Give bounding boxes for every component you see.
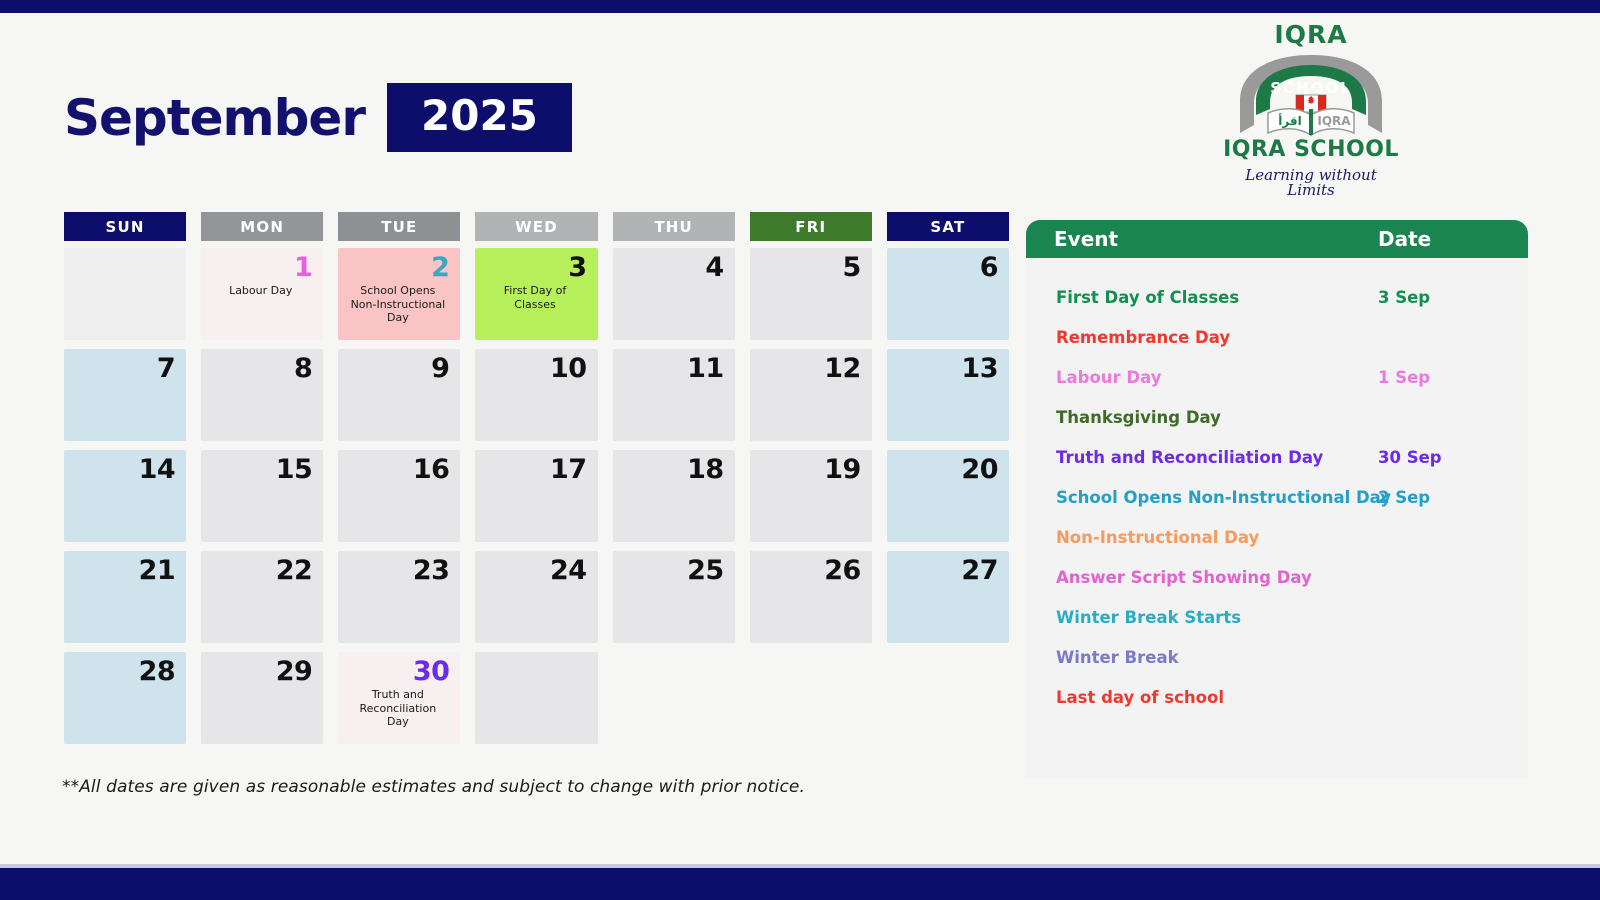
day-number: 27 — [895, 557, 998, 585]
day-number: 2 — [346, 254, 449, 282]
day-cell-26[interactable]: 26 — [750, 551, 872, 643]
footnote-text: **All dates are given as reasonable esti… — [62, 777, 805, 797]
day-number: 8 — [209, 355, 312, 383]
day-cell-30[interactable]: 30Truth and Reconciliation Day — [338, 652, 460, 744]
event-legend-row: Truth and Reconciliation Day30 Sep — [1026, 448, 1528, 488]
day-number: 21 — [72, 557, 175, 585]
day-number: 5 — [758, 254, 861, 282]
event-name: Winter Break — [1056, 648, 1179, 667]
event-legend-row: First Day of Classes3 Sep — [1026, 288, 1528, 328]
event-name: Answer Script Showing Day — [1056, 568, 1312, 587]
calendar-week-row: 14151617181920 — [64, 450, 1009, 542]
event-legend-row: Winter Break — [1026, 648, 1528, 688]
day-cell-24[interactable]: 24 — [475, 551, 597, 643]
day-number: 4 — [621, 254, 724, 282]
day-cell-27[interactable]: 27 — [887, 551, 1009, 643]
event-name: Winter Break Starts — [1056, 608, 1241, 627]
day-header-thu: THU — [613, 212, 735, 241]
day-number: 22 — [209, 557, 312, 585]
calendar-week-row: 1Labour Day2School Opens Non-Instruction… — [64, 248, 1009, 340]
events-panel-body: First Day of Classes3 SepRemembrance Day… — [1026, 258, 1528, 778]
event-legend-row: Remembrance Day — [1026, 328, 1528, 368]
day-header-sat: SAT — [887, 212, 1009, 241]
year-badge: 2025 — [387, 83, 572, 152]
day-number: 28 — [72, 658, 175, 686]
event-name: Remembrance Day — [1056, 328, 1230, 347]
event-legend-row: School Opens Non-Instructional Day2 Sep — [1026, 488, 1528, 528]
event-name: First Day of Classes — [1056, 288, 1239, 307]
day-cell-19[interactable]: 19 — [750, 450, 872, 542]
day-header-sun: SUN — [64, 212, 186, 241]
event-legend-row: Labour Day1 Sep — [1026, 368, 1528, 408]
day-cell-11[interactable]: 11 — [613, 349, 735, 441]
day-cell-2[interactable]: 2School Opens Non-Instructional Day — [338, 248, 460, 340]
day-number: 3 — [483, 254, 586, 282]
day-number: 6 — [895, 254, 998, 282]
day-number: 17 — [483, 456, 586, 484]
logo-tagline: Learning without Limits — [1222, 168, 1400, 198]
day-cell-14[interactable]: 14 — [64, 450, 186, 542]
day-number: 24 — [483, 557, 586, 585]
day-number: 11 — [621, 355, 724, 383]
logo-iqra-wordmark: IQRA — [1222, 22, 1400, 47]
day-cell-25[interactable]: 25 — [613, 551, 735, 643]
day-cell-5[interactable]: 5 — [750, 248, 872, 340]
day-number: 15 — [209, 456, 312, 484]
logo-school-name: IQRA SCHOOL — [1222, 139, 1400, 161]
calendar-week-row: 78910111213 — [64, 349, 1009, 441]
day-number: 14 — [72, 456, 175, 484]
svg-text:اقرأ: اقرأ — [1278, 113, 1302, 128]
day-number: 25 — [621, 557, 724, 585]
day-cell-blank — [475, 652, 597, 744]
day-header-mon: MON — [201, 212, 323, 241]
day-cell-10[interactable]: 10 — [475, 349, 597, 441]
day-cell-17[interactable]: 17 — [475, 450, 597, 542]
logo-crest-icon: SCHOOL اقرأ IQRA — [1226, 45, 1396, 137]
day-cell-13[interactable]: 13 — [887, 349, 1009, 441]
day-header-fri: FRI — [750, 212, 872, 241]
day-cell-4[interactable]: 4 — [613, 248, 735, 340]
calendar-week-row: 282930Truth and Reconciliation Day — [64, 652, 1009, 744]
top-accent-bar — [0, 0, 1600, 13]
day-number: 7 — [72, 355, 175, 383]
day-cell-3[interactable]: 3First Day of Classes — [475, 248, 597, 340]
day-number: 9 — [346, 355, 449, 383]
day-cell-12[interactable]: 12 — [750, 349, 872, 441]
event-legend-row: Thanksgiving Day — [1026, 408, 1528, 448]
event-date: 30 Sep — [1378, 448, 1442, 467]
day-cell-7[interactable]: 7 — [64, 349, 186, 441]
school-logo: IQRA SCHOOL اقرأ IQRA IQRA SCHOOL Learni… — [1222, 18, 1400, 204]
event-date: 3 Sep — [1378, 288, 1430, 307]
calendar-title: September 2025 — [64, 83, 572, 152]
calendar-weeks: 1Labour Day2School Opens Non-Instruction… — [64, 248, 1009, 744]
day-cell-20[interactable]: 20 — [887, 450, 1009, 542]
day-header-tue: TUE — [338, 212, 460, 241]
event-legend-row: Last day of school — [1026, 688, 1528, 728]
event-legend-row: Non-Instructional Day — [1026, 528, 1528, 568]
day-event-note: Labour Day — [209, 284, 312, 297]
day-number: 23 — [346, 557, 449, 585]
day-cell-22[interactable]: 22 — [201, 551, 323, 643]
event-name: Non-Instructional Day — [1056, 528, 1259, 547]
events-col-header-event: Event — [1054, 227, 1118, 251]
day-cell-23[interactable]: 23 — [338, 551, 460, 643]
event-date: 1 Sep — [1378, 368, 1430, 387]
events-col-header-date: Date — [1378, 227, 1431, 251]
day-cell-29[interactable]: 29 — [201, 652, 323, 744]
day-number: 29 — [209, 658, 312, 686]
day-cell-blank — [750, 652, 872, 744]
day-cell-15[interactable]: 15 — [201, 450, 323, 542]
day-number: 26 — [758, 557, 861, 585]
day-number: 1 — [209, 254, 312, 282]
day-event-note: First Day of Classes — [483, 284, 586, 311]
bottom-accent-bar — [0, 868, 1600, 900]
month-label: September — [64, 93, 365, 143]
day-header-wed: WED — [475, 212, 597, 241]
day-cell-1[interactable]: 1Labour Day — [201, 248, 323, 340]
event-date: 2 Sep — [1378, 488, 1430, 507]
event-legend-row: Answer Script Showing Day — [1026, 568, 1528, 608]
day-number: 13 — [895, 355, 998, 383]
events-panel: Event Date First Day of Classes3 SepReme… — [1026, 220, 1528, 778]
day-number: 16 — [346, 456, 449, 484]
svg-text:IQRA: IQRA — [1317, 114, 1351, 128]
event-name: Last day of school — [1056, 688, 1224, 707]
event-name: Truth and Reconciliation Day — [1056, 448, 1323, 467]
svg-text:SCHOOL: SCHOOL — [1270, 79, 1351, 97]
day-event-note: Truth and Reconciliation Day — [346, 688, 449, 728]
day-number: 18 — [621, 456, 724, 484]
day-cell-8[interactable]: 8 — [201, 349, 323, 441]
day-cell-blank — [613, 652, 735, 744]
event-name: Thanksgiving Day — [1056, 408, 1221, 427]
calendar-grid: SUNMONTUEWEDTHUFRISAT 1Labour Day2School… — [64, 212, 1009, 753]
crest-svg: SCHOOL اقرأ IQRA — [1226, 45, 1396, 137]
event-legend-row: Winter Break Starts — [1026, 608, 1528, 648]
day-number: 12 — [758, 355, 861, 383]
day-number: 20 — [895, 456, 998, 484]
day-cell-blank — [887, 652, 1009, 744]
day-number: 10 — [483, 355, 586, 383]
events-panel-header: Event Date — [1026, 220, 1528, 258]
day-cell-16[interactable]: 16 — [338, 450, 460, 542]
day-number: 30 — [346, 658, 449, 686]
day-cell-18[interactable]: 18 — [613, 450, 735, 542]
day-of-week-header-row: SUNMONTUEWEDTHUFRISAT — [64, 212, 1009, 241]
event-name: School Opens Non-Instructional Day — [1056, 488, 1391, 507]
calendar-week-row: 21222324252627 — [64, 551, 1009, 643]
day-cell-28[interactable]: 28 — [64, 652, 186, 744]
day-cell-blank — [64, 248, 186, 340]
day-cell-9[interactable]: 9 — [338, 349, 460, 441]
day-cell-21[interactable]: 21 — [64, 551, 186, 643]
event-name: Labour Day — [1056, 368, 1162, 387]
day-event-note: School Opens Non-Instructional Day — [346, 284, 449, 324]
day-number: 19 — [758, 456, 861, 484]
day-cell-6[interactable]: 6 — [887, 248, 1009, 340]
